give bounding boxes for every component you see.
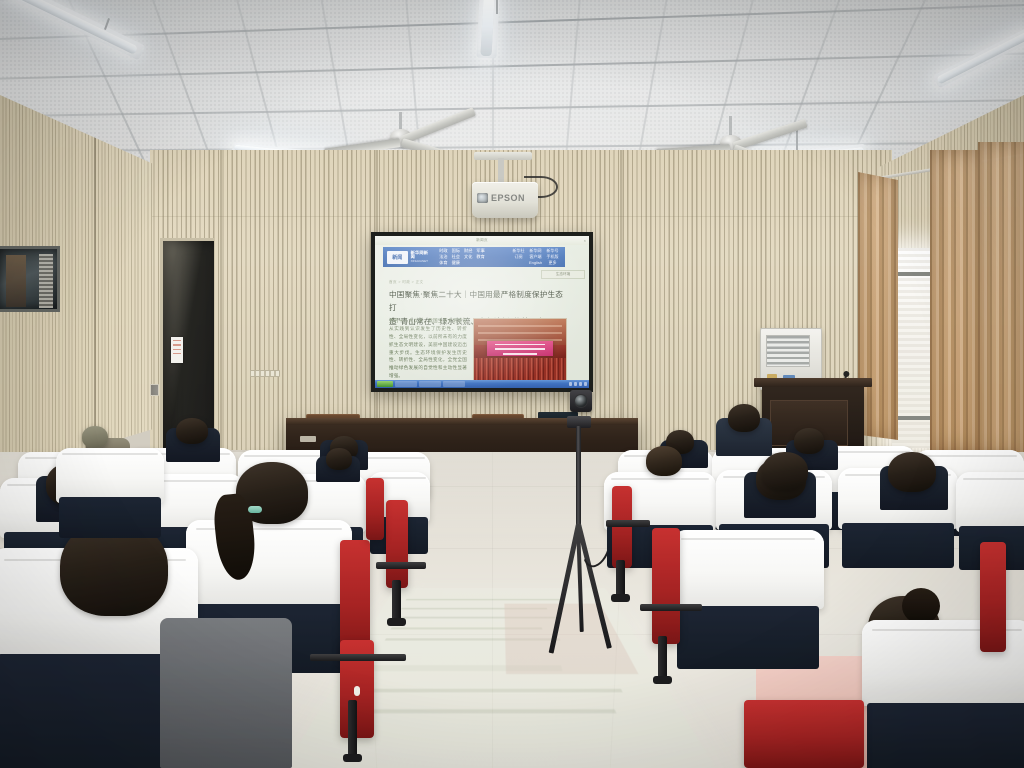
close-icon[interactable]: × bbox=[584, 238, 586, 243]
nav-secondary-item[interactable]: English bbox=[527, 260, 544, 266]
start-button[interactable] bbox=[377, 381, 393, 387]
slide-section-tag: 生态环境 bbox=[541, 270, 585, 279]
nav-secondary-item[interactable]: 订阅 bbox=[510, 254, 527, 260]
attendee-torso bbox=[160, 618, 292, 768]
taskbar-item[interactable] bbox=[395, 381, 417, 387]
camera-lens-icon bbox=[574, 394, 588, 408]
slide-photo-banner bbox=[487, 341, 553, 356]
conference-room-photo: EPSON 新闻页 × 新闻 新华网新闻 XINHUANET 时政 国际 财经 bbox=[0, 0, 1024, 768]
slide-site-subname: XINHUANET bbox=[411, 260, 432, 263]
slide-breadcrumb: 首页 > 时政 > 正文 bbox=[389, 280, 424, 285]
slide-nav-menu: 时政 国际 财经 军事 法治 社会 文化 教育 体育 健康 bbox=[437, 248, 495, 267]
slide-site-logo: 新闻 bbox=[387, 251, 408, 264]
slide-nav-secondary: 新华社 新华网 新华号 订阅 客户端 手机版 English 更多 bbox=[495, 248, 561, 266]
nav-item[interactable]: 教育 bbox=[474, 254, 486, 260]
projection-screen: 新闻页 × 新闻 新华网新闻 XINHUANET 时政 国际 财经 军事 法治 … bbox=[375, 236, 589, 388]
right-window bbox=[892, 248, 934, 448]
seat-leg bbox=[348, 700, 357, 758]
taskbar-item[interactable] bbox=[419, 381, 441, 387]
attendee-head bbox=[728, 404, 760, 432]
seat-leg bbox=[616, 560, 625, 598]
seat-headrest-cover bbox=[186, 520, 352, 604]
slide-body-paragraph: 党的十八大以来，我国生态文明建设从实践到认识发生了历史性、转折性、全局性变化，以… bbox=[389, 318, 467, 381]
projection-screen-frame: 新闻页 × 新闻 新华网新闻 XINHUANET 时政 国际 财经 军事 法治 … bbox=[371, 232, 593, 392]
nav-item[interactable]: 体育 bbox=[437, 260, 449, 266]
seat-side-panel bbox=[386, 500, 408, 588]
ac-vent-grille bbox=[766, 335, 810, 367]
auditorium-seat[interactable] bbox=[56, 448, 164, 536]
seat-side-panel bbox=[980, 542, 1006, 652]
attendee-head bbox=[888, 452, 936, 492]
seat-headrest-cover bbox=[956, 472, 1024, 532]
wall-vent bbox=[250, 370, 280, 377]
slide-window-title: 新闻页 bbox=[476, 238, 488, 243]
attendee-head bbox=[762, 452, 808, 490]
nav-item[interactable]: 文化 bbox=[462, 254, 474, 260]
slide-headline-line1: 中国聚焦·聚焦二十大｜中国用最严格制度保护生态 打 bbox=[389, 288, 567, 315]
attendee-head bbox=[82, 426, 108, 448]
slide-body-text: 党的十八大以来，我国生态文明建设从实践到认识发生了历史性、转折性、全局性变化，以… bbox=[389, 318, 467, 381]
projector-lens bbox=[477, 193, 488, 203]
seat-side-panel bbox=[652, 528, 680, 644]
taskbar-item[interactable] bbox=[443, 381, 465, 387]
tripod-center-column bbox=[576, 426, 581, 534]
attendee-hair-bun bbox=[902, 588, 940, 624]
attendee-head bbox=[646, 446, 682, 476]
curtain-right-panel[interactable] bbox=[930, 150, 982, 450]
projector-mount-arm bbox=[498, 158, 504, 184]
seat-side-panel bbox=[612, 486, 632, 568]
seat-leg bbox=[658, 636, 667, 680]
fan-blade bbox=[400, 107, 476, 145]
slide-site-name-block: 新华网新闻 XINHUANET bbox=[411, 251, 432, 263]
auditorium-seat[interactable] bbox=[672, 530, 824, 666]
seat-side-panel bbox=[744, 700, 864, 768]
door-notice bbox=[171, 337, 183, 363]
attendee-head bbox=[176, 418, 208, 444]
slide-section-tag-label: 生态环境 bbox=[556, 272, 570, 277]
light-switch[interactable] bbox=[150, 384, 159, 396]
seat-side-panel bbox=[366, 478, 384, 540]
nav-item[interactable]: 健康 bbox=[450, 260, 462, 266]
projector-brand-label: EPSON bbox=[491, 193, 525, 203]
seat-headrest-cover bbox=[56, 448, 164, 503]
video-camera bbox=[570, 390, 592, 412]
system-tray bbox=[569, 382, 588, 386]
seat-tablet-arm[interactable] bbox=[310, 654, 406, 661]
seat-tablet-arm[interactable] bbox=[606, 520, 650, 527]
table-name-plate bbox=[300, 436, 316, 442]
seat-tablet-arm[interactable] bbox=[640, 604, 702, 611]
hair-tie bbox=[248, 506, 262, 513]
curtain-left-panel[interactable] bbox=[858, 172, 898, 440]
attendee-head bbox=[326, 448, 352, 470]
left-wall-window bbox=[0, 246, 60, 312]
attendee-head bbox=[794, 428, 824, 454]
projector: EPSON bbox=[472, 182, 538, 218]
slide-site-navbar: 新闻 新华网新闻 XINHUANET 时政 国际 财经 军事 法治 社会 文化 … bbox=[383, 247, 565, 267]
seat-leg bbox=[392, 580, 401, 622]
slide-window-titlebar: 新闻页 × bbox=[375, 236, 589, 245]
slide-os-taskbar bbox=[375, 380, 589, 388]
fan-blade bbox=[733, 119, 808, 151]
seat-tablet-arm[interactable] bbox=[376, 562, 426, 569]
nav-secondary-item[interactable]: 更多 bbox=[544, 260, 561, 266]
seat-headrest-cover bbox=[672, 530, 824, 609]
curtain-far-right-panel[interactable] bbox=[978, 142, 1024, 454]
slide-photo-congress-hall bbox=[473, 318, 567, 388]
slide-logo-text: 新闻 bbox=[392, 254, 402, 261]
